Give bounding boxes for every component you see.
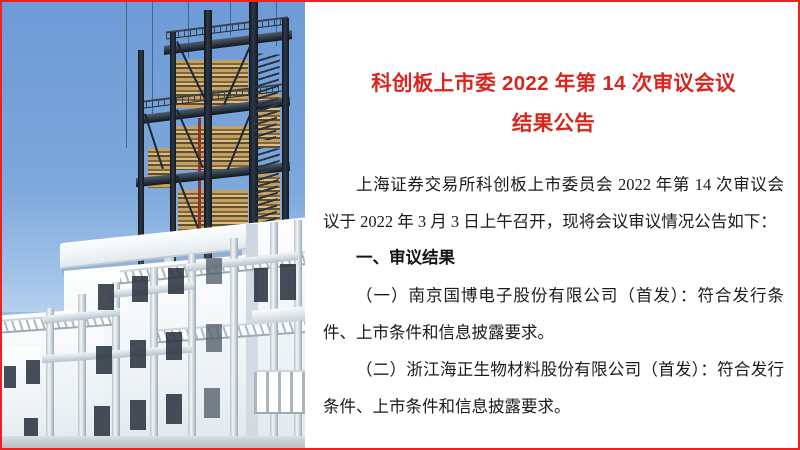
- document-content: 科创板上市委 2022 年第 14 次审议会议 结果公告 上海证券交易所科创板上…: [305, 2, 798, 425]
- building-window: [280, 264, 296, 300]
- cable-line: [126, 2, 127, 148]
- intro-paragraph: 上海证券交易所科创板上市委员会 2022 年第 14 次审议会议于 2022 年…: [323, 166, 784, 240]
- building-window: [98, 284, 114, 310]
- building-window: [168, 268, 184, 294]
- building-window: [166, 394, 182, 424]
- steel-post: [46, 308, 54, 450]
- building-window: [94, 406, 110, 436]
- building-window: [206, 258, 222, 284]
- building-window: [204, 388, 220, 418]
- building-window: [166, 332, 182, 360]
- steel-post: [150, 268, 158, 450]
- ground-strip: [2, 436, 305, 450]
- steel-post: [230, 238, 238, 450]
- building-window: [130, 400, 146, 430]
- document-title-line-1: 科创板上市委 2022 年第 14 次审议会议: [323, 64, 784, 104]
- building-window: [132, 276, 148, 302]
- side-grille: [254, 370, 305, 414]
- screenshot-frame: 科创板上市委 2022 年第 14 次审议会议 结果公告 上海证券交易所科创板上…: [0, 0, 800, 450]
- review-item-2: （二）浙江海正生物材料股份有限公司（首发）：符合发行条件、上市条件和信息披露要求…: [323, 351, 784, 425]
- document-title-line-2: 结果公告: [323, 104, 784, 144]
- building-window: [206, 324, 222, 352]
- announcement-document: 科创板上市委 2022 年第 14 次审议会议 结果公告 上海证券交易所科创板上…: [305, 2, 798, 448]
- building-window: [254, 268, 268, 302]
- construction-photo: [2, 2, 305, 450]
- building-window: [26, 360, 40, 384]
- review-item-1: （一）南京国博电子股份有限公司（首发）：符合发行条件、上市条件和信息披露要求。: [323, 277, 784, 351]
- industrial-building: [2, 220, 305, 450]
- document-body: 上海证券交易所科创板上市委员会 2022 年第 14 次审议会议于 2022 年…: [323, 166, 784, 425]
- access-staircase: [254, 53, 280, 140]
- building-window: [96, 346, 112, 374]
- section-heading-review-results: 一、审议结果: [323, 240, 784, 277]
- building-window: [4, 366, 16, 388]
- building-window: [130, 340, 146, 368]
